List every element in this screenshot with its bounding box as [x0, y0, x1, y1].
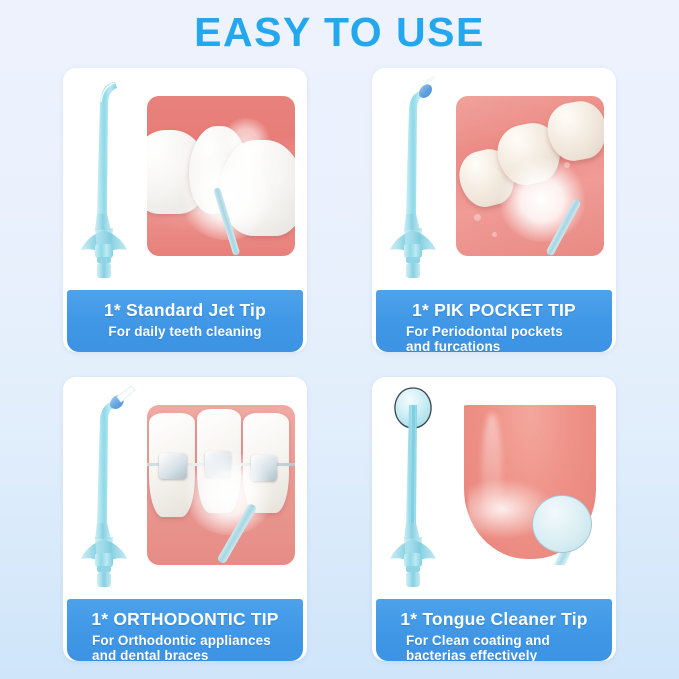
- card-subtitle-line2: bacterias effectively: [376, 648, 612, 661]
- orthodontic-nozzle-icon: [77, 383, 149, 589]
- tip-card-tongue-cleaner[interactable]: 1* Tongue Cleaner Tip For Clean coating …: [372, 377, 616, 661]
- tip-card-standard-jet[interactable]: 1* Standard Jet Tip For daily teeth clea…: [63, 68, 307, 352]
- braces-brackets-water-photo: [147, 405, 295, 565]
- tongue-cleaner-nozzle-icon: [386, 383, 458, 589]
- card-title: 1* PIK POCKET TIP: [376, 298, 612, 322]
- card-subtitle-line2: and furcations: [376, 339, 612, 352]
- tip-card-orthodontic[interactable]: 1* ORTHODONTIC TIP For Orthodontic appli…: [63, 377, 307, 661]
- card-label-bar: 1* Standard Jet Tip For daily teeth clea…: [67, 290, 303, 352]
- card-subtitle-line1: For Clean coating and: [376, 633, 612, 648]
- standard-jet-nozzle-icon: [77, 74, 149, 280]
- card-title: 1* Tongue Cleaner Tip: [376, 607, 612, 631]
- card-body: [372, 68, 616, 284]
- card-label-bar: 1* PIK POCKET TIP For Periodontal pocket…: [376, 290, 612, 352]
- card-body: [63, 68, 307, 284]
- card-body: [63, 377, 307, 593]
- tip-card-pik-pocket[interactable]: 1* PIK POCKET TIP For Periodontal pocket…: [372, 68, 616, 352]
- card-title: 1* Standard Jet Tip: [67, 298, 303, 322]
- card-label-bar: 1* ORTHODONTIC TIP For Orthodontic appli…: [67, 599, 303, 661]
- card-subtitle-line1: For Orthodontic appliances: [67, 633, 303, 648]
- card-title: 1* ORTHODONTIC TIP: [67, 607, 303, 631]
- card-subtitle-line1: For Periodontal pockets: [376, 324, 612, 339]
- page-title: EASY TO USE: [0, 10, 679, 55]
- tips-grid: 1* Standard Jet Tip For daily teeth clea…: [63, 68, 616, 666]
- pik-pocket-nozzle-icon: [386, 74, 458, 280]
- card-label-bar: 1* Tongue Cleaner Tip For Clean coating …: [376, 599, 612, 661]
- card-subtitle-line2: and dental braces: [67, 648, 303, 661]
- card-subtitle-line1: For daily teeth cleaning: [67, 324, 303, 339]
- molars-periodontal-pocket-photo: [456, 96, 604, 256]
- card-body: [372, 377, 616, 593]
- tongue-coating-cleaning-photo: [456, 405, 604, 565]
- teeth-gum-water-spray-photo: [147, 96, 295, 256]
